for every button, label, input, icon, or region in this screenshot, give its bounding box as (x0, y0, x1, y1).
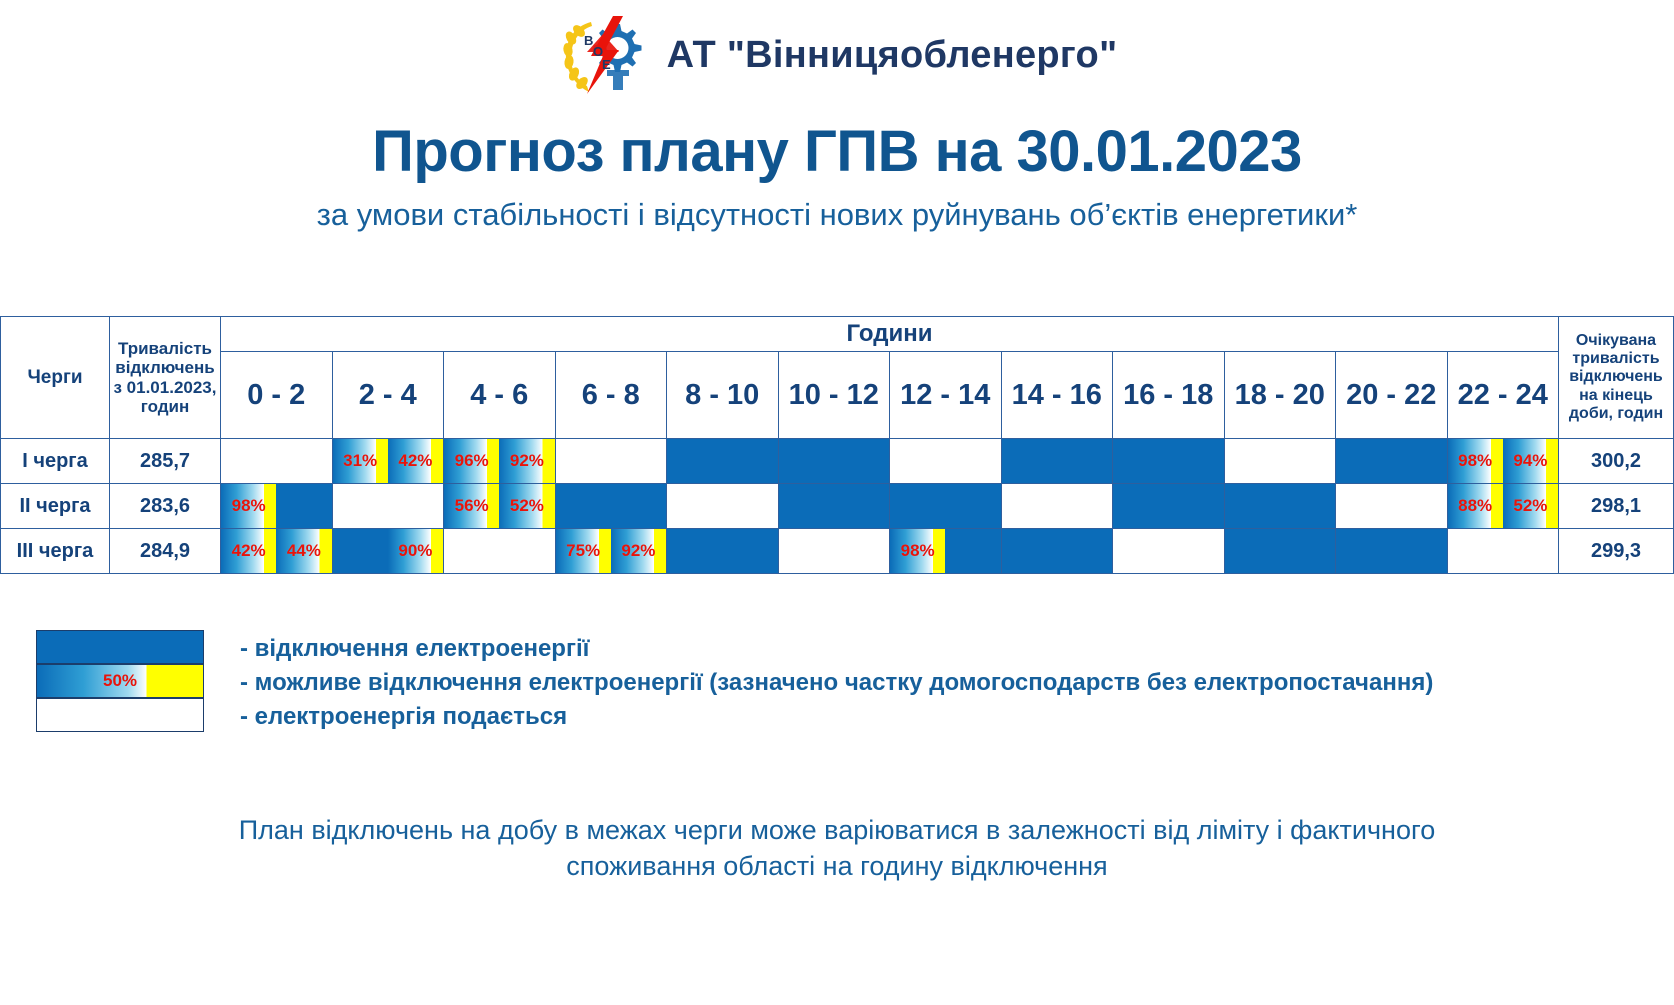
header-hour-8: 16 - 18 (1113, 352, 1225, 439)
cell-halves (667, 529, 778, 573)
header-hour-0: 0 - 2 (221, 352, 333, 439)
cell-half-maybe: 56% (444, 484, 499, 528)
cell-halves (890, 439, 1001, 483)
cell-half-on (276, 439, 331, 483)
schedule-cell-0-5[interactable] (778, 439, 890, 484)
cell-half-off (1391, 439, 1446, 483)
cell-halves (1002, 484, 1113, 528)
cell-half-on (890, 439, 945, 483)
legend-swatch-on (36, 698, 204, 732)
cell-half-off (667, 529, 722, 573)
cell-half-off (1168, 484, 1223, 528)
header-expected-l3: відключень (1559, 368, 1673, 386)
cell-percent-label: 98% (232, 496, 266, 516)
table-row: III черга284,942%44%90%75%92%98%299,3 (1, 529, 1674, 574)
cell-half-maybe: 44% (276, 529, 331, 573)
brand-header: В О Е АТ "Вінницяобленерго" (0, 0, 1674, 96)
cell-half-off (1336, 439, 1391, 483)
schedule-cell-2-2[interactable] (444, 529, 556, 574)
cell-half-off (1225, 529, 1280, 573)
cell-half-off (1280, 529, 1335, 573)
cell-halves (556, 439, 667, 483)
schedule-cell-0-0[interactable] (221, 439, 333, 484)
cell-half-on (1503, 529, 1558, 573)
cell-half-on (1280, 439, 1335, 483)
page-subtitle: за умови стабільності і відсутності нови… (0, 197, 1674, 233)
cell-halves (1002, 529, 1113, 573)
cell-half-maybe: 42% (221, 529, 276, 573)
legend-label-on: - електроенергія подається (240, 700, 1433, 734)
schedule-cell-1-4[interactable] (667, 484, 779, 529)
schedule-cell-0-11[interactable]: 98%94% (1447, 439, 1559, 484)
cell-halves: 98% (221, 484, 332, 528)
cell-half-on (444, 529, 499, 573)
cell-percent-label: 98% (901, 541, 935, 561)
schedule-cell-0-2[interactable]: 96%92% (444, 439, 556, 484)
cell-half-off (667, 439, 722, 483)
legend-label-maybe: - можливе відключення електроенергії (за… (240, 666, 1433, 700)
cell-halves: 90% (333, 529, 444, 573)
header-hour-7: 14 - 16 (1001, 352, 1113, 439)
cell-percent-label: 52% (1513, 496, 1547, 516)
cell-half-on (611, 439, 666, 483)
header-duration-l3: з 01.01.2023, (110, 378, 220, 397)
cell-half-maybe: 98% (221, 484, 276, 528)
cell-half-maybe: 94% (1503, 439, 1558, 483)
cell-percent-label: 52% (510, 496, 544, 516)
schedule-cell-0-4[interactable] (667, 439, 779, 484)
cell-halves (556, 484, 667, 528)
cell-half-off (945, 529, 1000, 573)
cell-halves (221, 439, 332, 483)
cell-halves (890, 484, 1001, 528)
cell-percent-label: 75% (566, 541, 600, 561)
cell-halves: 75%92% (556, 529, 667, 573)
cell-halves (779, 439, 890, 483)
cell-half-on (556, 439, 611, 483)
schedule-cell-1-2[interactable]: 56%52% (444, 484, 556, 529)
cell-half-off (890, 484, 945, 528)
header-expected: Очікувана тривалість відключень на кінец… (1559, 317, 1674, 439)
cell-half-maybe: 92% (611, 529, 666, 573)
cell-halves: 96%92% (444, 439, 555, 483)
schedule-cell-0-3[interactable] (555, 439, 667, 484)
cell-half-on (1336, 484, 1391, 528)
cell-half-maybe: 52% (499, 484, 554, 528)
schedule-cell-1-9[interactable] (1224, 484, 1336, 529)
cell-percent-label: 31% (343, 451, 377, 471)
schedule-cell-2-9[interactable] (1224, 529, 1336, 574)
table-body: I черга285,731%42%96%92%98%94%300,2II че… (1, 439, 1674, 574)
footer-line-2: споживання області на годину відключення (0, 848, 1674, 884)
row-queue-label: III черга (1, 529, 110, 574)
schedule-cell-2-6[interactable]: 98% (890, 529, 1002, 574)
cell-half-off (1336, 529, 1391, 573)
cell-half-off (834, 484, 889, 528)
schedule-cell-2-0[interactable]: 42%44% (221, 529, 333, 574)
cell-half-on (1448, 529, 1503, 573)
cell-half-on (1057, 484, 1112, 528)
cell-half-off (722, 529, 777, 573)
cell-half-off (1113, 439, 1168, 483)
cell-half-off (1002, 439, 1057, 483)
cell-half-off (1057, 439, 1112, 483)
cell-half-on (388, 484, 443, 528)
cell-halves: 98% (890, 529, 1001, 573)
header-duration-l1: Тривалість (110, 339, 220, 358)
legend-swatch-off (36, 630, 204, 664)
schedule-cell-2-5[interactable] (778, 529, 890, 574)
cell-half-on (722, 484, 777, 528)
cell-percent-label: 44% (287, 541, 321, 561)
row-queue-label: I черга (1, 439, 110, 484)
cell-half-off (556, 484, 611, 528)
cell-percent-label: 56% (455, 496, 489, 516)
cell-halves (1225, 439, 1336, 483)
schedule-cell-1-10[interactable] (1336, 484, 1448, 529)
schedule-table: Черги Тривалість відключень з 01.01.2023… (0, 316, 1674, 574)
cell-halves: 56%52% (444, 484, 555, 528)
table-row: I черга285,731%42%96%92%98%94%300,2 (1, 439, 1674, 484)
schedule-cell-2-1[interactable]: 90% (332, 529, 444, 574)
header-hour-9: 18 - 20 (1224, 352, 1336, 439)
schedule-cell-1-5[interactable] (778, 484, 890, 529)
cell-halves (667, 439, 778, 483)
cell-half-off (1391, 529, 1446, 573)
schedule-cell-1-3[interactable] (555, 484, 667, 529)
table-head: Черги Тривалість відключень з 01.01.2023… (1, 317, 1674, 439)
cell-halves: 88%52% (1448, 484, 1559, 528)
header-hour-1: 2 - 4 (332, 352, 444, 439)
row-expected-value: 300,2 (1559, 439, 1674, 484)
cell-half-maybe: 42% (388, 439, 443, 483)
cell-halves (667, 484, 778, 528)
cell-percent-label: 92% (510, 451, 544, 471)
cell-half-on (1113, 529, 1168, 573)
cell-percent-label: 98% (1458, 451, 1492, 471)
cell-half-on (1168, 529, 1223, 573)
cell-half-off (834, 439, 889, 483)
cell-halves (1002, 439, 1113, 483)
header-hour-5: 10 - 12 (778, 352, 890, 439)
schedule-cell-0-1[interactable]: 31%42% (332, 439, 444, 484)
row-expected-value: 298,1 (1559, 484, 1674, 529)
cell-half-on (1391, 484, 1446, 528)
cell-half-on (1225, 439, 1280, 483)
header-duration-l4: годин (110, 397, 220, 416)
cell-half-on (499, 529, 554, 573)
row-duration-value: 284,9 (110, 529, 221, 574)
schedule-cell-2-10[interactable] (1336, 529, 1448, 574)
header-hour-11: 22 - 24 (1447, 352, 1559, 439)
cell-halves (779, 529, 890, 573)
schedule-cell-2-7[interactable] (1001, 529, 1113, 574)
company-logo-icon: В О Е (557, 12, 649, 98)
cell-half-off (611, 484, 666, 528)
cell-half-off (276, 484, 331, 528)
schedule-cell-1-11[interactable]: 88%52% (1447, 484, 1559, 529)
cell-halves (1113, 439, 1224, 483)
cell-halves: 42%44% (221, 529, 332, 573)
legend-swatch-pct: 50% (103, 671, 137, 691)
cell-half-off (1057, 529, 1112, 573)
cell-half-maybe: 92% (499, 439, 554, 483)
cell-percent-label: 92% (621, 541, 655, 561)
schedule-cell-1-7[interactable] (1001, 484, 1113, 529)
cell-half-on (221, 439, 276, 483)
header-hour-6: 12 - 14 (890, 352, 1002, 439)
cell-halves (1336, 484, 1447, 528)
cell-half-on (1002, 484, 1057, 528)
cell-halves (1448, 529, 1559, 573)
schedule-cell-1-0[interactable]: 98% (221, 484, 333, 529)
schedule-cell-2-4[interactable] (667, 529, 779, 574)
header-hour-2: 4 - 6 (444, 352, 556, 439)
header-queues: Черги (1, 317, 110, 439)
cell-halves (333, 484, 444, 528)
header-hour-4: 8 - 10 (667, 352, 779, 439)
cell-halves (1113, 484, 1224, 528)
cell-halves (1225, 529, 1336, 573)
cell-half-on (667, 484, 722, 528)
cell-halves (1113, 529, 1224, 573)
cell-half-off (333, 529, 388, 573)
cell-half-off (1225, 484, 1280, 528)
cell-percent-label: 96% (455, 451, 489, 471)
footer-line-1: План відключень на добу в межах черги мо… (0, 812, 1674, 848)
hour-header-row: 0 - 22 - 44 - 66 - 88 - 1010 - 1212 - 14… (1, 352, 1674, 439)
schedule-cell-0-6[interactable] (890, 439, 1002, 484)
cell-half-off (779, 439, 834, 483)
cell-half-maybe: 52% (1503, 484, 1558, 528)
svg-text:В: В (584, 33, 593, 48)
cell-half-maybe: 90% (388, 529, 443, 573)
company-name: АТ "Вінницяобленерго" (667, 34, 1118, 77)
schedule-cell-1-1[interactable] (332, 484, 444, 529)
cell-half-off (1168, 439, 1223, 483)
row-duration-value: 283,6 (110, 484, 221, 529)
row-duration-value: 285,7 (110, 439, 221, 484)
svg-text:Е: Е (602, 57, 611, 72)
schedule-table-wrapper: Черги Тривалість відключень з 01.01.2023… (0, 316, 1674, 574)
header-expected-l2: тривалість (1559, 350, 1673, 368)
footer-note: План відключень на добу в межах черги мо… (0, 812, 1674, 885)
page-title: Прогноз плану ГПВ на 30.01.2023 (0, 118, 1674, 185)
cell-half-maybe: 96% (444, 439, 499, 483)
schedule-cell-0-8[interactable] (1113, 439, 1225, 484)
row-expected-value: 299,3 (1559, 529, 1674, 574)
cell-percent-label: 90% (398, 541, 432, 561)
cell-halves (779, 484, 890, 528)
cell-half-off (779, 484, 834, 528)
cell-half-off (1002, 529, 1057, 573)
cell-half-maybe: 98% (1448, 439, 1503, 483)
row-queue-label: II черга (1, 484, 110, 529)
cell-halves (1225, 484, 1336, 528)
table-row: II черга283,698%56%52%88%52%298,1 (1, 484, 1674, 529)
cell-half-on (779, 529, 834, 573)
cell-half-on (333, 484, 388, 528)
cell-half-maybe: 31% (333, 439, 388, 483)
cell-percent-label: 42% (398, 451, 432, 471)
cell-halves (1336, 529, 1447, 573)
schedule-cell-2-11[interactable] (1447, 529, 1559, 574)
cell-half-off (722, 439, 777, 483)
schedule-cell-2-3[interactable]: 75%92% (555, 529, 667, 574)
header-expected-l4: на кінець (1559, 387, 1673, 405)
schedule-cell-1-8[interactable] (1113, 484, 1225, 529)
cell-half-off (1113, 484, 1168, 528)
cell-half-on (945, 439, 1000, 483)
cell-halves (444, 529, 555, 573)
schedule-cell-0-9[interactable] (1224, 439, 1336, 484)
cell-half-off (945, 484, 1000, 528)
legend-texts: - відключення електроенергії - можливе в… (240, 630, 1433, 734)
schedule-cell-0-10[interactable] (1336, 439, 1448, 484)
schedule-cell-1-6[interactable] (890, 484, 1002, 529)
cell-half-maybe: 88% (1448, 484, 1503, 528)
header-expected-l1: Очікувана (1559, 332, 1673, 350)
header-row-group: Черги Тривалість відключень з 01.01.2023… (1, 317, 1674, 352)
cell-percent-label: 94% (1513, 451, 1547, 471)
header-hour-3: 6 - 8 (555, 352, 667, 439)
legend-swatches: 50% (36, 630, 204, 732)
header-hour-10: 20 - 22 (1336, 352, 1448, 439)
schedule-cell-2-8[interactable] (1113, 529, 1225, 574)
cell-half-maybe: 98% (890, 529, 945, 573)
cell-halves (1336, 439, 1447, 483)
schedule-cell-0-7[interactable] (1001, 439, 1113, 484)
header-hours-group: Години (221, 317, 1559, 352)
header-expected-l5: доби, годин (1559, 405, 1673, 423)
cell-halves: 31%42% (333, 439, 444, 483)
cell-percent-label: 42% (232, 541, 266, 561)
legend-label-off: - відключення електроенергії (240, 632, 1433, 666)
legend-swatch-maybe: 50% (36, 664, 204, 698)
header-duration: Тривалість відключень з 01.01.2023, годи… (110, 317, 221, 439)
legend: 50% - відключення електроенергії - можли… (0, 630, 1674, 734)
cell-half-maybe: 75% (556, 529, 611, 573)
header-duration-l2: відключень (110, 358, 220, 377)
cell-half-on (834, 529, 889, 573)
cell-halves: 98%94% (1448, 439, 1559, 483)
cell-percent-label: 88% (1458, 496, 1492, 516)
cell-half-off (1280, 484, 1335, 528)
